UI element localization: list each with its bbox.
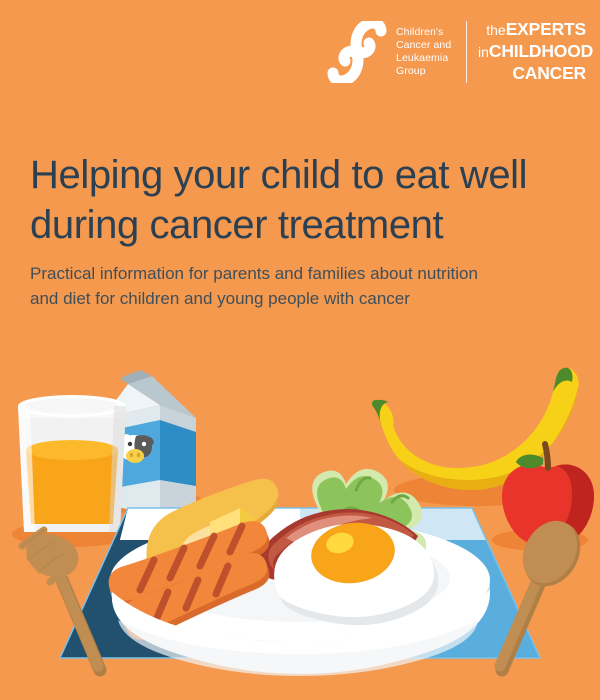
breakfast-table-illustration [0, 340, 600, 700]
page-title-line-2: during cancer treatment [30, 200, 580, 250]
org-line-3: Leukaemia [396, 52, 460, 65]
org-line-4: Group [396, 65, 460, 78]
strapline-experts: EXPERTS [506, 19, 586, 39]
page-title-line-1: Helping your child to eat well [30, 150, 580, 200]
org-line-2: Cancer and [396, 39, 460, 52]
orange-juice-glass [18, 395, 126, 532]
page-subtitle-line-2: and diet for children and young people w… [30, 287, 550, 312]
brochure-cover: Children's Cancer and Leukaemia Group th… [0, 0, 600, 700]
org-line-1: Children's [396, 26, 460, 39]
strapline-row-3: CANCER [478, 63, 586, 85]
page-title: Helping your child to eat well during ca… [30, 150, 580, 250]
cclg-organisation-name: Children's Cancer and Leukaemia Group [396, 26, 460, 77]
strapline-row-2: inCHILDHOOD [478, 41, 586, 63]
page-subtitle-line-1: Practical information for parents and fa… [30, 262, 550, 287]
strapline-in: in [478, 44, 489, 60]
cclg-strapline: theEXPERTS inCHILDHOOD CANCER [478, 19, 586, 85]
cclg-swirl-logo-icon [326, 21, 388, 83]
logo-divider [466, 21, 467, 83]
strapline-the: the [486, 22, 505, 38]
cclg-logo[interactable]: Children's Cancer and Leukaemia Group th… [326, 14, 584, 90]
strapline-row-1: theEXPERTS [478, 19, 586, 41]
page-subtitle: Practical information for parents and fa… [30, 262, 550, 311]
strapline-cancer: CANCER [512, 63, 586, 83]
strapline-childhood: CHILDHOOD [489, 41, 593, 61]
